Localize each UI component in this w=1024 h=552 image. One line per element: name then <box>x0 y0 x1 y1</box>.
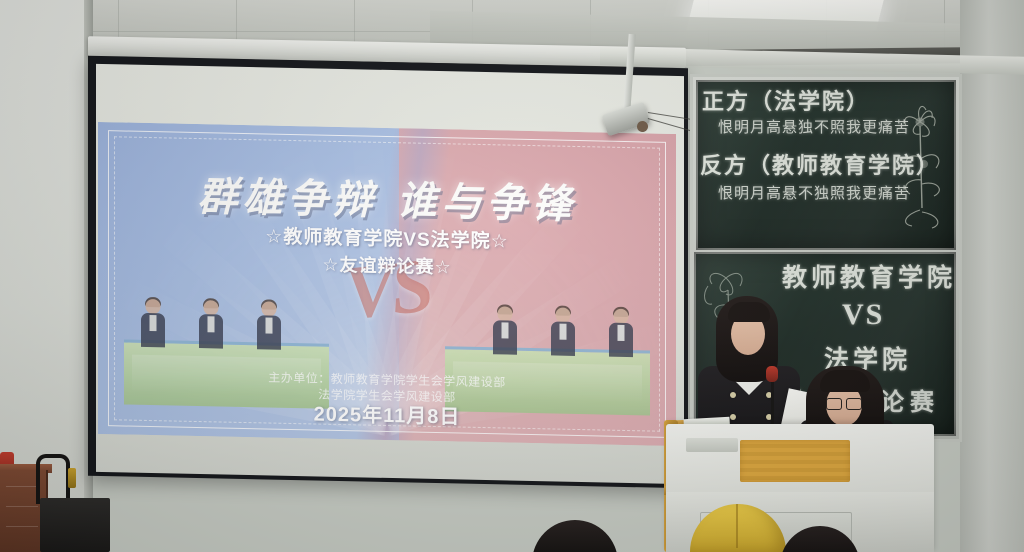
figure-shirt <box>618 325 625 341</box>
blackboard-line-pro-motion: 恨明月高悬独不照我更痛苦 <box>718 116 910 137</box>
slide-debater-figure <box>198 300 224 349</box>
figure-head <box>146 299 161 314</box>
microphone-gooseneck <box>36 454 70 504</box>
figure-shirt <box>208 316 215 332</box>
figure-shirt <box>266 317 273 333</box>
slide-debater-figure <box>256 301 282 350</box>
cap-seam <box>736 504 738 548</box>
cabinet-line <box>6 486 38 487</box>
blackboard-line-con-motion: 恨明月高悬不独照我更痛苦 <box>718 182 910 203</box>
cabinet-line <box>6 526 38 527</box>
figure-shirt <box>560 324 567 340</box>
lectern-tray <box>686 438 738 452</box>
seated-debater-fringe <box>820 370 870 392</box>
floor-speaker <box>40 498 110 552</box>
figure-head <box>498 306 513 321</box>
right-wall <box>960 0 1024 552</box>
slide-debater-figure <box>608 309 634 358</box>
cabinet-line <box>6 506 38 507</box>
figure-head <box>204 300 219 315</box>
glasses-right-lens <box>846 398 862 410</box>
glasses-left-lens <box>826 398 842 410</box>
microphone-icon <box>766 366 778 382</box>
projected-slide: VS <box>98 122 676 446</box>
standing-debater-fringe <box>728 302 770 322</box>
audience-head-left <box>532 520 618 552</box>
figure-head <box>556 308 571 323</box>
blackboard-vs: VS <box>842 298 884 332</box>
coat-button <box>730 414 736 420</box>
figure-shirt <box>150 315 157 331</box>
figure-head <box>262 301 277 316</box>
microphone-body-icon <box>68 468 76 488</box>
slide-debater-figure <box>492 306 518 355</box>
blackboard-line-con-side: 反方（教师教育学院） <box>700 148 940 180</box>
coat-button <box>730 392 736 398</box>
glasses-icon <box>826 398 862 408</box>
ceiling-tile <box>118 0 237 32</box>
lectern-wood-panel <box>740 440 850 482</box>
ceiling-tile <box>236 0 355 32</box>
blackboard-line-pro-side: 正方（法学院） <box>702 84 870 116</box>
slide-debater-figure <box>140 299 166 348</box>
figure-head <box>614 309 629 324</box>
slide-debater-figure <box>550 307 576 356</box>
blackboard-team-a: 教师教育学院 <box>782 258 956 294</box>
classroom-debate-photo: VS <box>0 0 1024 552</box>
figure-shirt <box>502 322 509 338</box>
